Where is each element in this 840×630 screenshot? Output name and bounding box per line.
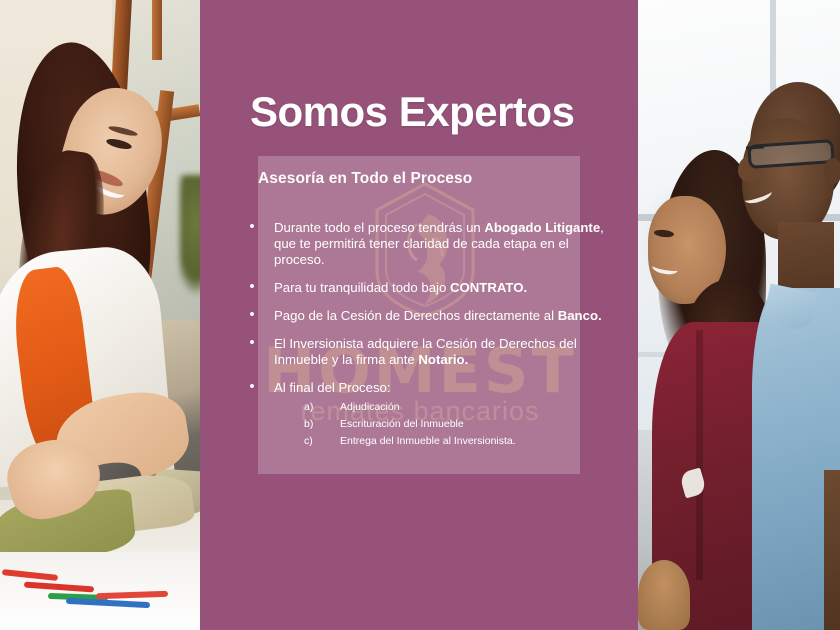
man-arm xyxy=(824,470,840,630)
photo-two-colleagues-at-bright-window xyxy=(638,0,840,630)
window-frame-vertical-2 xyxy=(152,0,162,60)
photo-woman-at-window-with-fabric-swatches xyxy=(0,0,200,630)
plant xyxy=(180,175,200,295)
bullet-text: Para tu tranquilidad todo bajo CONTRATO. xyxy=(274,280,527,295)
page-title: Somos Expertos xyxy=(250,88,574,136)
sublist-item: c)Entrega del Inmueble al Inversionista. xyxy=(304,433,618,450)
man-ear xyxy=(824,158,840,184)
sublist-item-text: Adjudicación xyxy=(340,401,400,413)
bullet-item: Pago de la Cesión de Derechos directamen… xyxy=(248,308,618,324)
bullet-item: Durante todo el proceso tendrás un Aboga… xyxy=(248,220,618,268)
bullet-item: Para tu tranquilidad todo bajo CONTRATO. xyxy=(248,280,618,296)
sublist-item: b)Escrituración del Inmueble xyxy=(304,416,618,433)
bullet-marker xyxy=(250,312,254,316)
sublist-item-label: c) xyxy=(304,433,340,450)
bullet-text: Pago de la Cesión de Derechos directamen… xyxy=(274,308,602,323)
woman-hands xyxy=(638,560,690,630)
bullet-item: Al final del Proceso:a)Adjudicaciónb)Esc… xyxy=(248,380,618,450)
bullet-item: El Inversionista adquiere la Cesión de D… xyxy=(248,336,618,368)
sublist-item-label: b) xyxy=(304,416,340,433)
right-photo-layers xyxy=(638,0,840,630)
bullet-list: Durante todo el proceso tendrás un Aboga… xyxy=(248,220,618,462)
sublist-item-text: Escrituración del Inmueble xyxy=(340,418,464,430)
paper-sheet xyxy=(0,552,200,630)
bullet-text: Durante todo el proceso tendrás un Aboga… xyxy=(274,220,604,267)
blouse-placket xyxy=(696,330,703,580)
bullet-marker xyxy=(250,384,254,388)
sublist-item-label: a) xyxy=(304,399,340,416)
bullet-marker xyxy=(250,340,254,344)
presentation-slide: Somos Expertos HOMEST remates bancarios … xyxy=(0,0,840,630)
section-subtitle: Asesoría en Todo el Proceso xyxy=(258,170,472,188)
bullet-marker xyxy=(250,224,254,228)
bullet-marker xyxy=(250,284,254,288)
left-photo-layers xyxy=(0,0,200,630)
sublist-item-text: Entrega del Inmueble al Inversionista. xyxy=(340,435,516,447)
bullet-text: El Inversionista adquiere la Cesión de D… xyxy=(274,336,577,367)
slide-content: Asesoría en Todo el Proceso Durante todo… xyxy=(248,156,618,516)
sublist-item: a)Adjudicación xyxy=(304,399,618,416)
bullet-text: Al final del Proceso: xyxy=(274,380,391,395)
bullet-sublist: a)Adjudicaciónb)Escrituración del Inmueb… xyxy=(274,399,618,450)
